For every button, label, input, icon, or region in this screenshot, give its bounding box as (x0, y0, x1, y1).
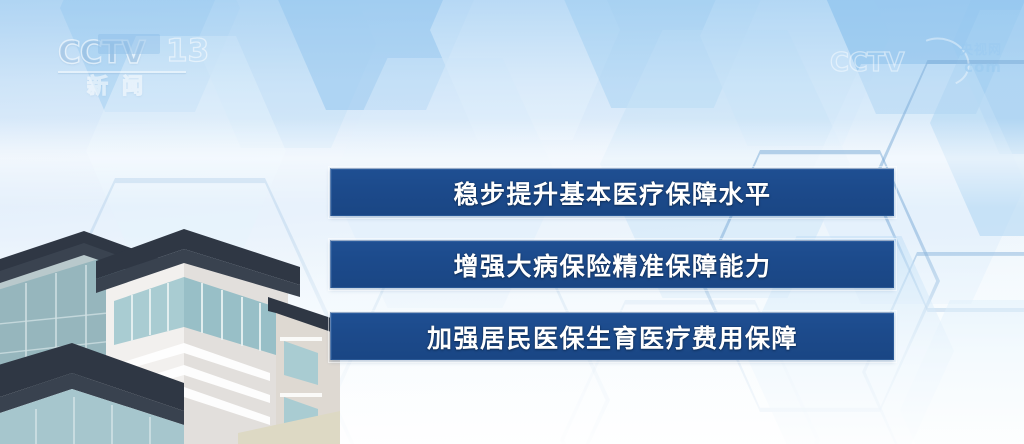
broadcast-frame: CCTV 13 新闻 CCTV 央视网 com 稳步提升基本医疗保障水平 增强大… (0, 0, 1024, 444)
policy-banner-list: 稳步提升基本医疗保障水平 增强大病保险精准保障能力 加强居民医保生育医疗费用保障 (330, 168, 894, 360)
cctv-watermark-wordmark: CCTV (830, 50, 904, 76)
policy-banner-1-text: 稳步提升基本医疗保障水平 (453, 175, 771, 211)
cctv13-logo: CCTV 13 新闻 (58, 38, 218, 102)
hospital-building-illustration (0, 215, 340, 444)
cctv-domain-label: com (964, 60, 1002, 75)
policy-banner-2: 增强大病保险精准保障能力 (330, 240, 894, 288)
policy-banner-3-text: 加强居民医保生育医疗费用保障 (427, 319, 798, 355)
policy-banner-1: 稳步提升基本医疗保障水平 (330, 168, 894, 216)
cctv-com-watermark: CCTV 央视网 com (820, 38, 1006, 84)
logo-blue-chip (98, 34, 160, 54)
channel-name-label: 新闻 (58, 76, 186, 97)
policy-banner-3: 加强居民医保生育医疗费用保障 (330, 312, 894, 360)
cctv-brand-cn: 央视网 (960, 44, 1002, 57)
channel-number: 13 (166, 36, 209, 67)
policy-banner-2-text: 增强大病保险精准保障能力 (453, 247, 771, 283)
logo-divider (58, 71, 186, 73)
